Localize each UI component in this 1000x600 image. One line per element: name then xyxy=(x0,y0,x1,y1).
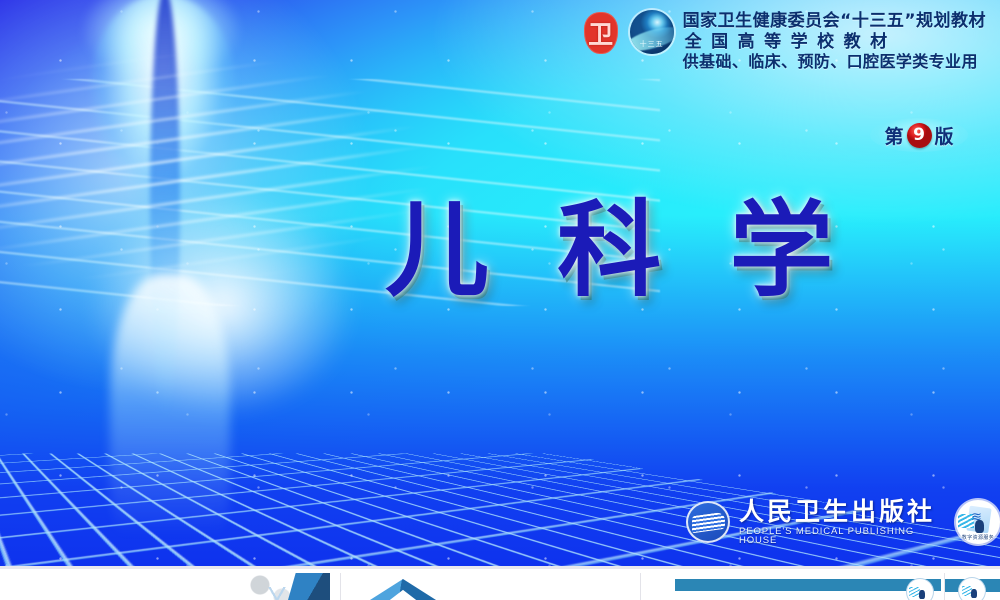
slide-header: 卫 十三五 国家卫生健康委员会“十三五”规划教材 全国高等学校教材 供基础、临床… xyxy=(581,10,986,72)
triangle-arrow-logo-icon xyxy=(357,579,449,600)
edition-number: 9 xyxy=(907,123,932,148)
header-text-lines: 国家卫生健康委员会“十三五”规划教材 全国高等学校教材 供基础、临床、预防、口腔… xyxy=(683,10,986,72)
page-title: 儿 科 学 xyxy=(385,196,849,305)
edition-prefix: 第 xyxy=(884,122,903,149)
hand-icon xyxy=(971,589,977,598)
hand-icon xyxy=(975,520,984,533)
arrow-triangle xyxy=(357,579,449,600)
publisher-names: 人民卫生出版社 PEOPLE'S MEDICAL PUBLISHING HOUS… xyxy=(739,499,941,546)
globe-emblem-icon: 十三五 xyxy=(630,10,674,54)
glowing-human-silhouette xyxy=(32,0,332,534)
thumb-header-bar xyxy=(675,579,941,591)
presentation-slide[interactable]: 卫 十三五 国家卫生健康委员会“十三五”规划教材 全国高等学校教材 供基础、临床… xyxy=(0,0,1000,566)
edition-suffix: 版 xyxy=(935,122,954,149)
thumb-arrow-logo[interactable] xyxy=(340,573,637,600)
open-book-icon xyxy=(686,501,730,543)
book-pages xyxy=(692,512,725,534)
ministry-emblem-glyph: 卫 xyxy=(581,10,621,56)
thumb-teal-header-slide-partial[interactable] xyxy=(944,573,1000,600)
edition-badge: 第 9 版 xyxy=(870,118,968,152)
slide-thumbnail-strip[interactable] xyxy=(0,566,1000,600)
thumb-molecule-cover[interactable] xyxy=(248,573,330,600)
header-line-1: 国家卫生健康委员会“十三五”规划教材 xyxy=(683,11,986,32)
hand-icon xyxy=(919,590,925,599)
header-line-3: 供基础、临床、预防、口腔医学类专业用 xyxy=(683,52,986,72)
globe-caption: 十三五 xyxy=(630,39,674,49)
digital-resource-badge-icon xyxy=(959,578,985,600)
publisher-name-en: PEOPLE'S MEDICAL PUBLISHING HOUSE xyxy=(739,527,941,546)
slide-viewer: 卫 十三五 国家卫生健康委员会“十三五”规划教材 全国高等学校教材 供基础、临床… xyxy=(0,0,1000,600)
publisher-name-cn: 人民卫生出版社 xyxy=(739,499,941,525)
thumb-teal-header-slide[interactable] xyxy=(640,573,941,600)
ministry-emblem-icon: 卫 xyxy=(581,10,621,56)
digital-resource-badge-icon xyxy=(907,579,933,600)
badge-label: 数字资源服务 xyxy=(956,534,1000,541)
header-line-2: 全国高等学校教材 xyxy=(683,32,986,53)
figure-legs xyxy=(110,274,230,564)
publisher-block: 人民卫生出版社 PEOPLE'S MEDICAL PUBLISHING HOUS… xyxy=(686,499,1000,546)
digital-resource-badge-icon: ≋ 数字资源服务 xyxy=(956,500,1000,544)
